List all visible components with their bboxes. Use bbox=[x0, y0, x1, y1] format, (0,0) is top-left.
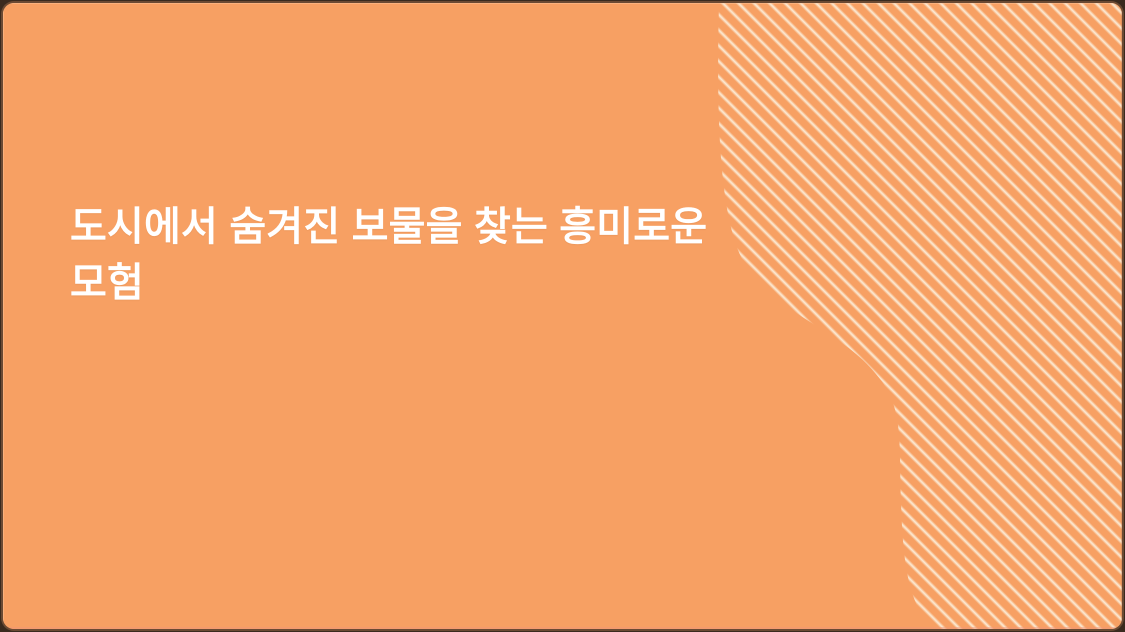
slide-canvas: 도시에서 숨겨진 보물을 찾는 흥미로운 모험 bbox=[0, 0, 1125, 632]
slide-frame: 도시에서 숨겨진 보물을 찾는 흥미로운 모험 bbox=[3, 3, 1122, 629]
headline-container: 도시에서 숨겨진 보물을 찾는 흥미로운 모험 bbox=[70, 199, 760, 311]
page-title: 도시에서 숨겨진 보물을 찾는 흥미로운 모험 bbox=[70, 199, 760, 311]
